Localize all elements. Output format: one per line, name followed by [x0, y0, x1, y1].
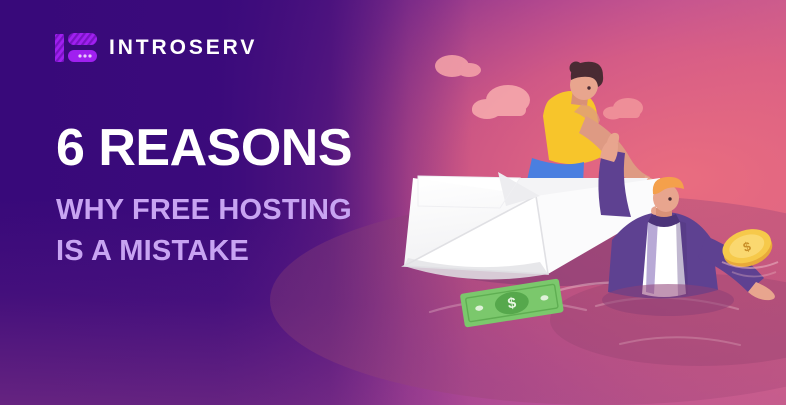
- promo-banner: $ $: [0, 0, 786, 405]
- subtitle-line-1: WHY FREE HOSTING: [56, 190, 436, 231]
- headline-subtitle: WHY FREE HOSTING IS A MISTAKE: [56, 190, 436, 272]
- cloud-right: [603, 98, 643, 120]
- subtitle-line-2: IS A MISTAKE: [56, 231, 436, 272]
- headline-title: 6 REASONS: [56, 122, 436, 174]
- introserv-wordmark: INTROSERV: [109, 37, 257, 58]
- cloud-top-left: [435, 55, 481, 77]
- introserv-server-rack-icon: [55, 29, 97, 66]
- headline-block: 6 REASONS WHY FREE HOSTING IS A MISTAKE: [56, 122, 436, 272]
- introserv-logo[interactable]: INTROSERV: [55, 29, 257, 66]
- cloud-middle: [472, 85, 530, 119]
